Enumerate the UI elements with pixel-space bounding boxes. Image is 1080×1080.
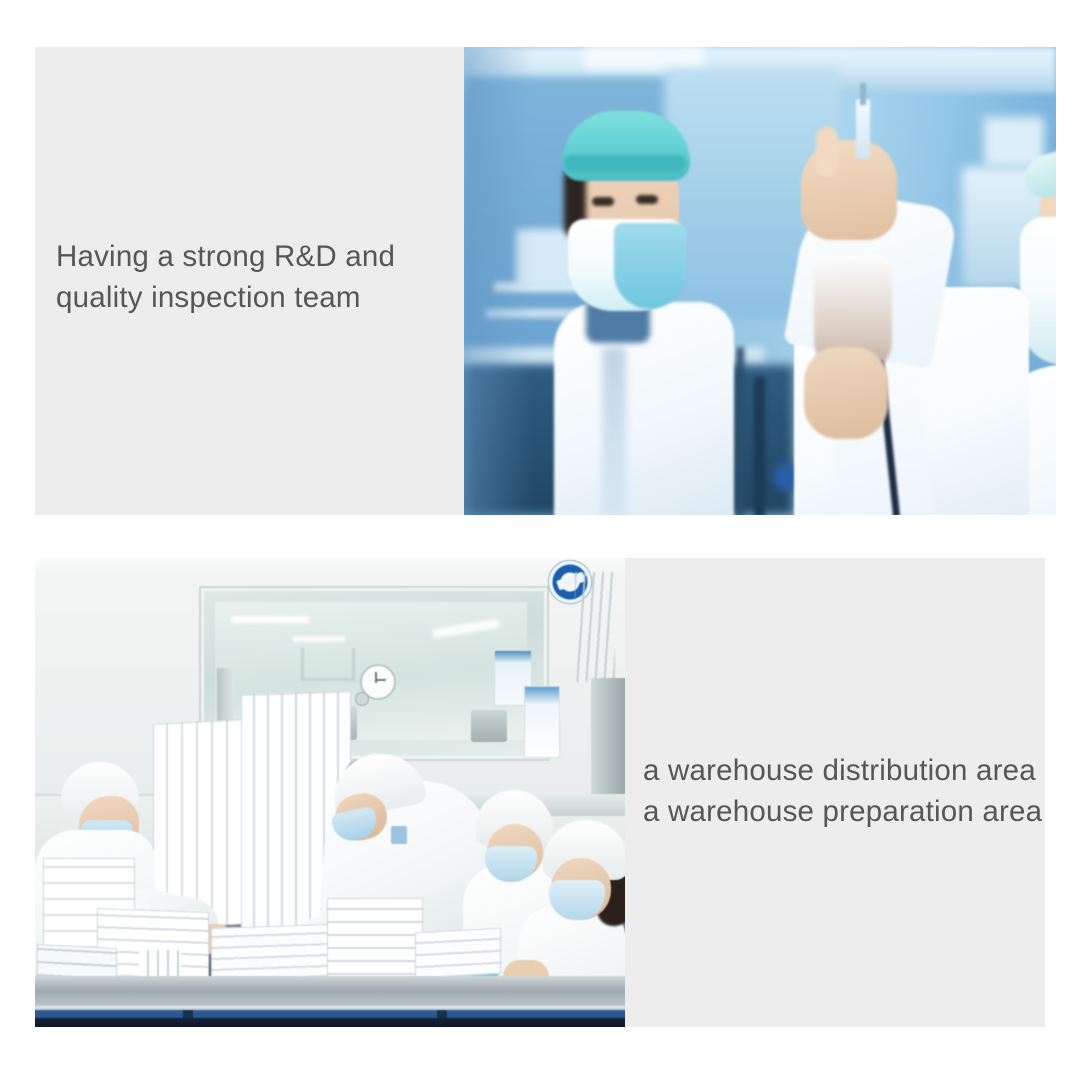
caption-line-1: Having a strong R&D and — [56, 236, 464, 277]
lab-ceiling-lamp — [584, 47, 704, 69]
warehouse-packing-photo — [35, 558, 625, 1027]
caption-panel-rnd: Having a strong R&D and quality inspecti… — [35, 47, 464, 515]
lab-inspection-photo — [464, 47, 1056, 515]
technician-center-finger — [816, 127, 838, 177]
carton-pile-b — [211, 924, 329, 980]
section-rnd-quality-inspection: Having a strong R&D and quality inspecti… — [35, 47, 1056, 515]
technician-left-coat-fold — [602, 347, 626, 515]
cleanroom-extraction-hood — [301, 648, 355, 681]
cleanroom-inner-lamp-1 — [231, 616, 309, 623]
lab-glass-reflection — [464, 47, 534, 515]
worker-2-badge — [391, 826, 407, 844]
carton-pile-c — [327, 898, 423, 986]
technician-center-lower-hand — [804, 347, 888, 439]
wall-gauge-icon — [355, 692, 369, 706]
technician-left-mask-blue-panel — [614, 223, 686, 309]
caption-line-2: a warehouse preparation area — [643, 791, 1045, 832]
technician-left-eye-left — [592, 197, 614, 206]
caption-line-1: a warehouse distribution area — [643, 750, 1045, 791]
cleanroom-inner-lamp-3 — [293, 636, 345, 642]
wall-information-panel — [524, 686, 560, 758]
technician-left-hairnet-band — [564, 155, 686, 171]
carton-pile-e — [415, 928, 501, 979]
caption-line-2: quality inspection team — [56, 277, 464, 318]
wall-clock-hour-hand — [375, 679, 386, 681]
laboratory-vial — [856, 99, 870, 159]
laboratory-vial-tip — [860, 83, 866, 105]
stainless-vessel-3 — [471, 710, 507, 742]
stainless-table-surface — [35, 976, 625, 1010]
lab-stand-pole — [754, 377, 765, 515]
ceiling-cables — [575, 572, 615, 682]
technician-left-eye-right — [636, 195, 658, 204]
under-table-shadow — [35, 1018, 625, 1027]
section-warehouse-areas: a warehouse distribution area a warehous… — [35, 558, 1045, 1027]
lab-stand-pole-back — [736, 347, 744, 515]
caption-panel-warehouse: a warehouse distribution area a warehous… — [625, 558, 1045, 1027]
product-feature-collage: Having a strong R&D and quality inspecti… — [0, 0, 1080, 1080]
wall-clock-minute-hand — [375, 672, 377, 683]
